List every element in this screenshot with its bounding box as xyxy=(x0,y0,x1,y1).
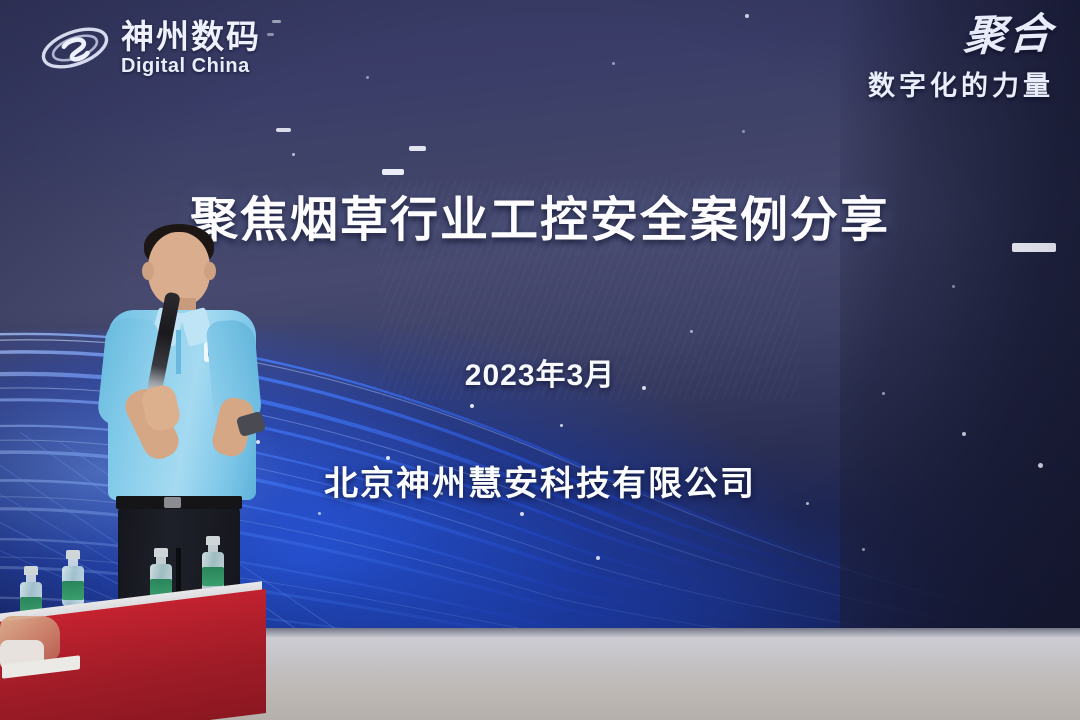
speaker-shirt-placket xyxy=(176,330,181,374)
speaker-ear-left xyxy=(142,262,154,280)
conference-stage-photo: 神州数码 Digital China 聚合 数字化的力量 聚焦烟草行业工控安全案… xyxy=(0,0,1080,720)
digital-china-swirl-icon xyxy=(38,18,112,78)
speaker-head xyxy=(148,232,210,306)
speaker-presenter xyxy=(92,218,272,638)
speaker-ear-right xyxy=(204,262,216,280)
event-brand: 聚合 数字化的力量 xyxy=(868,14,1054,103)
event-tagline: 数字化的力量 xyxy=(868,64,1054,103)
water-bottle xyxy=(62,550,84,606)
water-bottle xyxy=(202,536,224,592)
logo-name-en: Digital China xyxy=(121,56,261,76)
speaker-belt-buckle xyxy=(164,497,181,508)
event-calligraphy: 聚合 xyxy=(962,12,1055,57)
logo-name-cn: 神州数码 xyxy=(121,20,261,53)
digital-china-logo: 神州数码 Digital China xyxy=(38,18,261,78)
digital-china-wordmark: 神州数码 Digital China xyxy=(121,20,261,76)
